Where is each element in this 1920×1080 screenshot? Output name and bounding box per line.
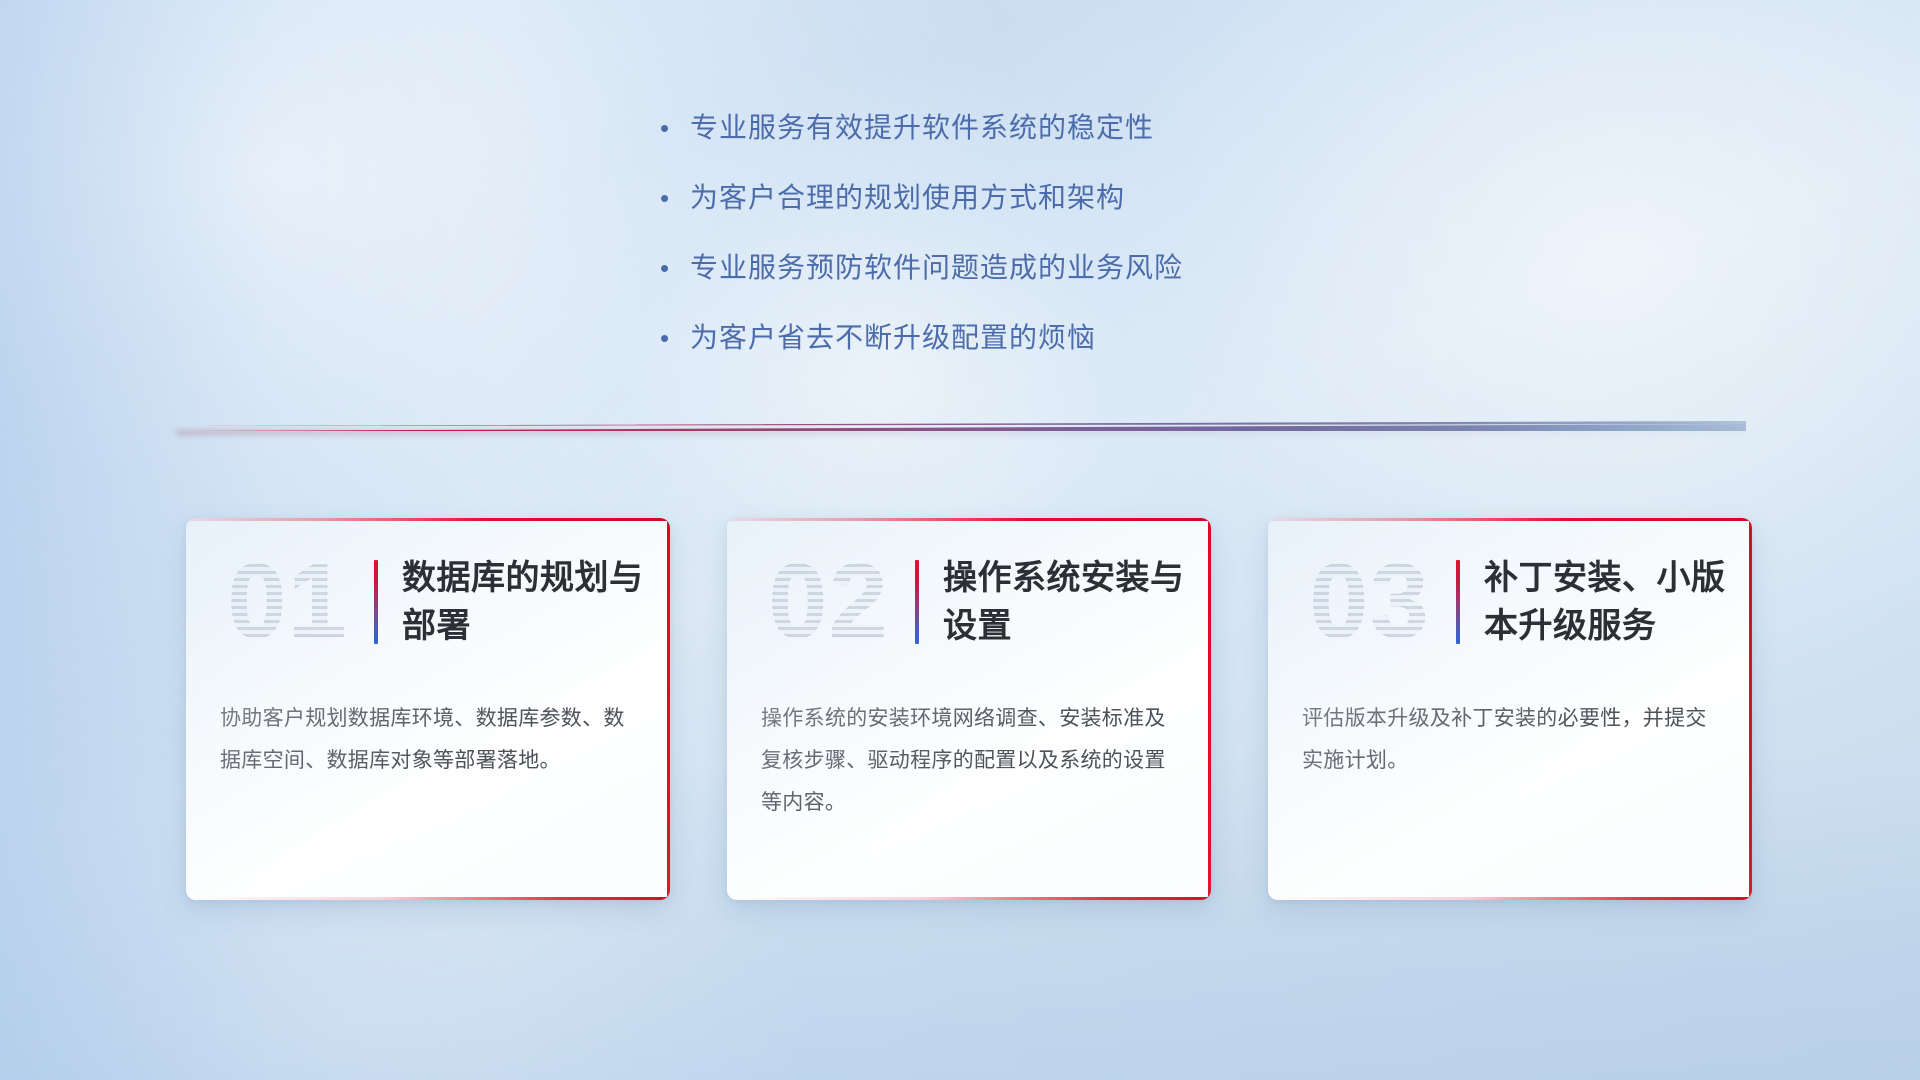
card-accent-bottom	[1268, 897, 1752, 900]
bullet-text: 专业服务预防软件问题造成的业务风险	[690, 248, 1183, 288]
card-body-text: 协助客户规划数据库环境、数据库参数、数据库空间、数据库对象等部署落地。	[186, 698, 670, 782]
list-item: • 专业服务有效提升软件系统的稳定性	[660, 108, 1520, 148]
bullet-text: 为客户合理的规划使用方式和架构	[690, 178, 1125, 218]
card-accent-bar	[915, 560, 919, 644]
card-accent-bar	[1456, 560, 1460, 644]
service-card-02[interactable]: 02 操作系统安装与设置 操作系统的安装环境网络调查、安装标准及复核步骤、驱动程…	[727, 518, 1211, 900]
card-header: 03 补丁安装、小版本升级服务	[1268, 518, 1752, 686]
card-accent-bar	[374, 560, 378, 644]
service-card-03[interactable]: 03 补丁安装、小版本升级服务 评估版本升级及补丁安装的必要性，并提交实施计划。	[1268, 518, 1752, 900]
bullet-text: 为客户省去不断升级配置的烦恼	[690, 318, 1096, 358]
bullet-dot-icon: •	[660, 318, 690, 358]
card-accent-bottom	[186, 897, 670, 900]
benefits-bullet-list: • 专业服务有效提升软件系统的稳定性 • 为客户合理的规划使用方式和架构 • 专…	[660, 108, 1520, 388]
card-accent-bottom	[727, 897, 1211, 900]
card-number-watermark: 03	[1290, 522, 1450, 682]
card-header: 02 操作系统安装与设置	[727, 518, 1211, 686]
bullet-dot-icon: •	[660, 178, 690, 218]
card-title: 数据库的规划与部署	[402, 554, 670, 650]
card-title: 补丁安装、小版本升级服务	[1484, 554, 1752, 650]
card-body-text: 操作系统的安装环境网络调查、安装标准及复核步骤、驱动程序的配置以及系统的设置等内…	[727, 698, 1211, 824]
card-number-watermark: 02	[749, 522, 909, 682]
card-title: 操作系统安装与设置	[943, 554, 1211, 650]
bullet-dot-icon: •	[660, 248, 690, 288]
list-item: • 为客户省去不断升级配置的烦恼	[660, 318, 1520, 358]
service-card-01[interactable]: 01 数据库的规划与部署 协助客户规划数据库环境、数据库参数、数据库空间、数据库…	[186, 518, 670, 900]
card-number-watermark: 01	[208, 522, 368, 682]
bullet-dot-icon: •	[660, 108, 690, 148]
list-item: • 专业服务预防软件问题造成的业务风险	[660, 248, 1520, 288]
section-divider	[176, 418, 1746, 436]
list-item: • 为客户合理的规划使用方式和架构	[660, 178, 1520, 218]
card-body-text: 评估版本升级及补丁安装的必要性，并提交实施计划。	[1268, 698, 1752, 782]
bullet-text: 专业服务有效提升软件系统的稳定性	[690, 108, 1154, 148]
card-header: 01 数据库的规划与部署	[186, 518, 670, 686]
service-card-group: 01 数据库的规划与部署 协助客户规划数据库环境、数据库参数、数据库空间、数据库…	[186, 518, 1752, 900]
